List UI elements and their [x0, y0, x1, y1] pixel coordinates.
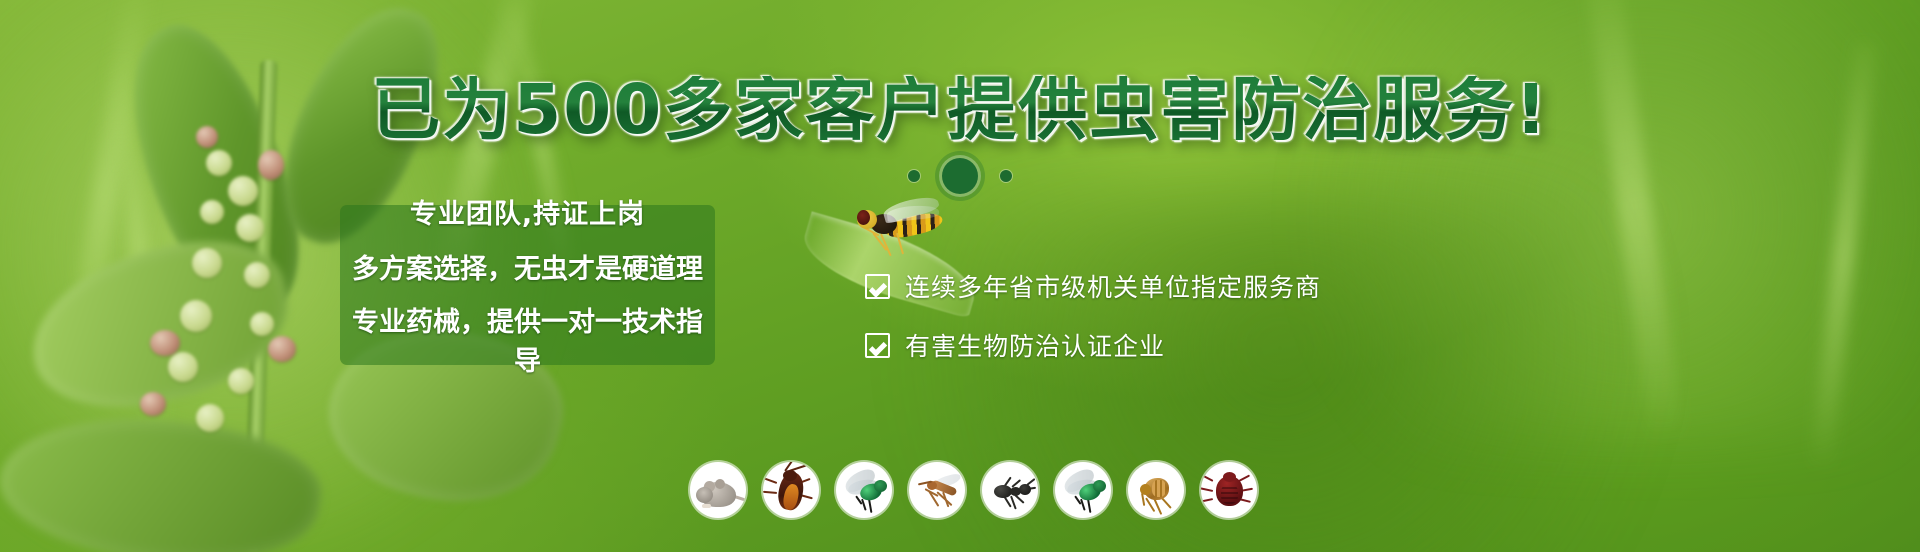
slogan-line-1: 专业团队,持证上岗 — [340, 188, 715, 240]
cockroach-icon[interactable] — [763, 462, 819, 518]
hoverfly-icon — [845, 196, 945, 248]
flower-bud — [244, 262, 270, 288]
flower-bud — [228, 368, 254, 394]
flower-bud — [250, 312, 274, 336]
decor-dots — [0, 158, 1920, 194]
bed-bug-segments — [1221, 484, 1238, 504]
cockroach-leg — [764, 478, 777, 484]
fly-head — [1093, 480, 1106, 492]
bullet-label: 有害生物防治认证企业 — [905, 327, 1165, 363]
mouse-ear — [715, 479, 725, 489]
bed-bug-leg — [1201, 487, 1213, 492]
ant-head — [1019, 484, 1031, 495]
flower-bud — [140, 392, 166, 416]
mouse-icon[interactable] — [690, 462, 746, 518]
flea-icon[interactable] — [1128, 462, 1184, 518]
leaf — [0, 398, 328, 552]
mouse-foot — [702, 504, 711, 508]
pest-icon-row — [690, 462, 1257, 518]
flower-bud — [268, 336, 296, 362]
fly-leg — [861, 499, 867, 511]
flower-bud — [200, 200, 224, 224]
fly-eye — [857, 210, 870, 225]
mouse-head — [696, 487, 713, 503]
flower-bud — [196, 404, 224, 432]
checkbox-checked-icon — [865, 333, 890, 358]
cockroach-head — [783, 470, 797, 481]
list-item: 连续多年省市级机关单位指定服务商 — [865, 268, 1321, 304]
flower-bud — [236, 214, 264, 242]
flower-bud — [180, 300, 212, 332]
slogan-box: 专业团队,持证上岗 多方案选择，无虫才是硬道理 专业药械，提供一对一技术指导 — [340, 205, 715, 365]
flea-head — [1140, 484, 1151, 495]
bed-bug-leg — [1201, 498, 1213, 502]
flower-bud — [192, 248, 222, 278]
fly-leg — [1080, 499, 1086, 511]
slogan-line-3: 专业药械，提供一对一技术指导 — [340, 293, 715, 382]
fly-icon[interactable] — [1055, 462, 1111, 518]
ant-icon[interactable] — [982, 462, 1038, 518]
bed-bug-leg — [1202, 474, 1214, 481]
flea-segments — [1152, 480, 1166, 497]
decor-dot-small — [1000, 170, 1012, 182]
flower-bud — [150, 330, 180, 356]
fly-head — [874, 480, 887, 492]
decor-dot-small — [908, 170, 920, 182]
flea-leg — [1153, 498, 1162, 515]
mosquito-icon[interactable] — [909, 462, 965, 518]
bed-bug-head — [1223, 472, 1236, 482]
cockroach-leg — [763, 491, 777, 494]
pest-control-hero-banner: 已为500多家客户提供虫害防治服务! 专业团队,持证上岗 多方案选择，无虫才是硬… — [0, 0, 1920, 552]
list-item: 有害生物防治认证企业 — [865, 327, 1321, 363]
green-bottle-fly-icon[interactable] — [836, 462, 892, 518]
page-title: 已为500多家客户提供虫害防治服务! — [0, 76, 1920, 145]
checkbox-checked-icon — [865, 274, 890, 299]
decor-dot-large — [942, 158, 978, 194]
feature-bullet-list: 连续多年省市级机关单位指定服务商 有害生物防治认证企业 — [865, 268, 1321, 363]
fly-leg — [1087, 499, 1091, 513]
flower-bud — [168, 352, 198, 382]
bed-bug-icon[interactable] — [1201, 462, 1257, 518]
bullet-label: 连续多年省市级机关单位指定服务商 — [905, 268, 1321, 304]
slogan-line-2: 多方案选择，无虫才是硬道理 — [340, 240, 715, 293]
fly-leg — [868, 499, 872, 513]
